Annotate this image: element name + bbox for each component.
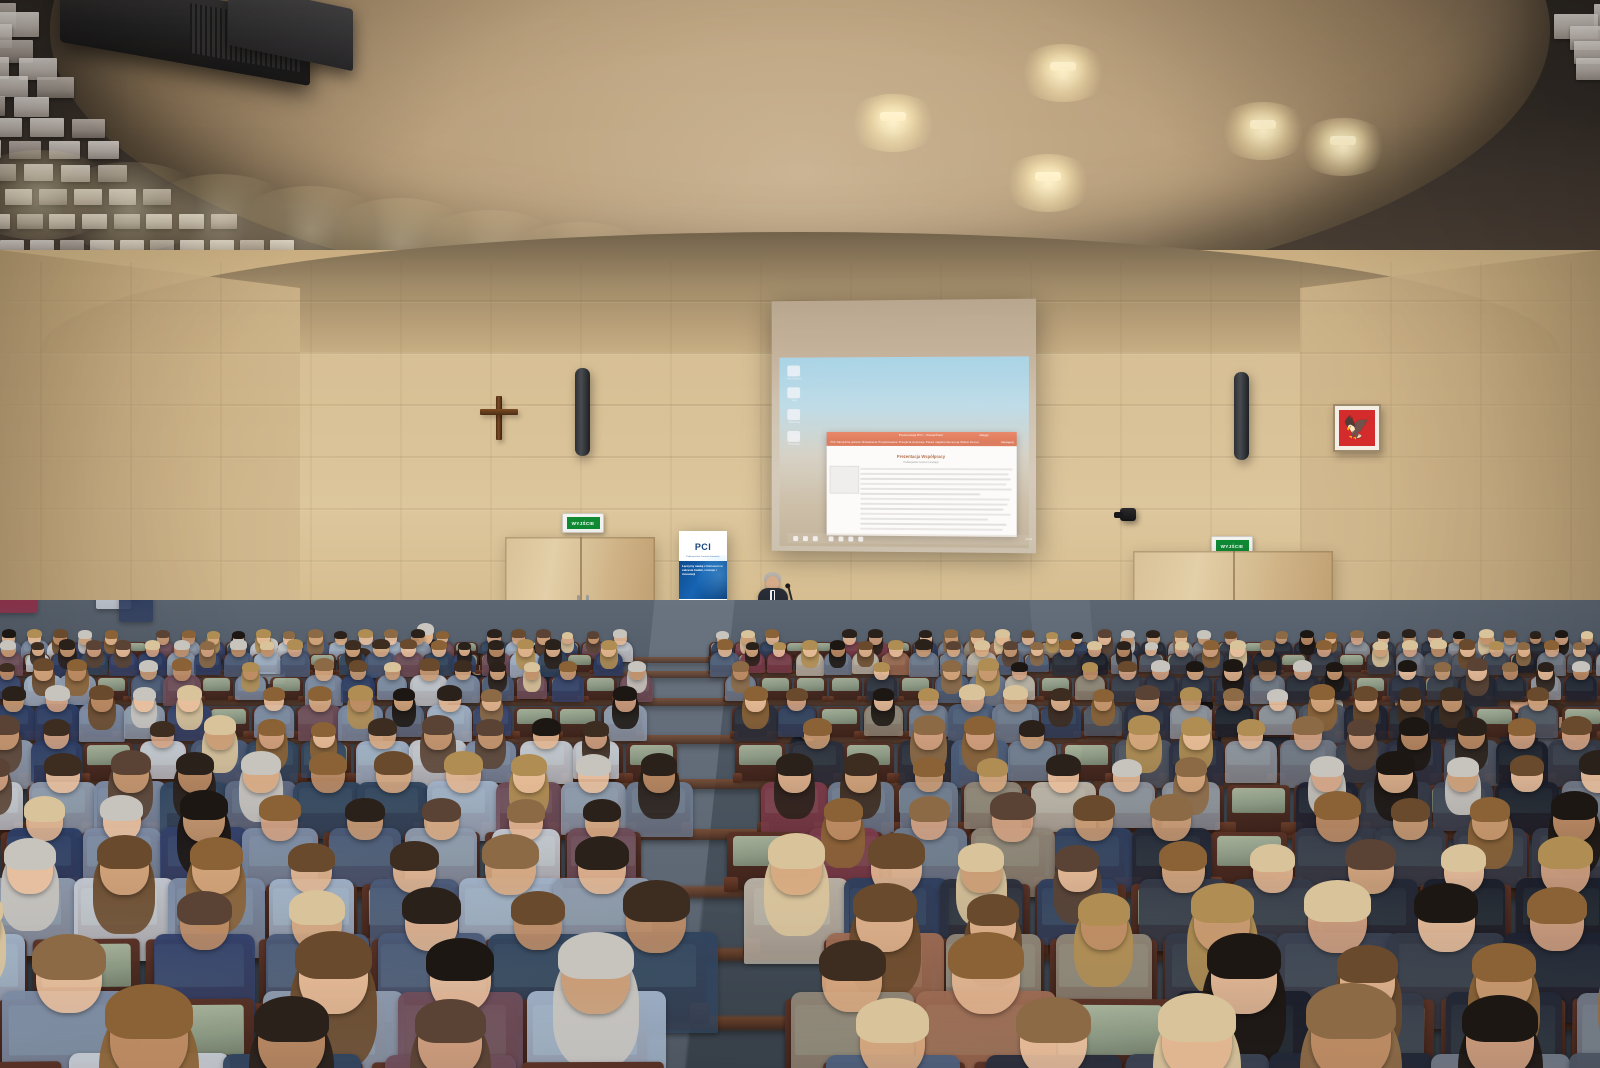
taskbar-app-icon-2[interactable] — [838, 536, 843, 541]
windows-taskbar[interactable]: 10:42 — [787, 533, 1036, 545]
crucifix-icon — [496, 396, 502, 440]
auditorium-photo: 🦅 WYJŚCIE WYJŚCIE Ten komputer — [0, 0, 1600, 1068]
desktop-icon-label-3: Dokumenty — [783, 421, 805, 424]
banner-claim-band: Łączymy naukę z biznesem w zakresie bada… — [679, 561, 727, 599]
slide-title: Prezentacja Współpracy — [897, 454, 945, 459]
coat-of-arms-frame: 🦅 — [1333, 404, 1381, 452]
crucifix-crossbar-icon — [480, 409, 518, 415]
screen-top-border — [772, 299, 1036, 359]
desktop-icon-label-1: Ten komputer — [783, 377, 805, 380]
taskbar-app-icon-3[interactable] — [848, 536, 853, 541]
powerpoint-share-button[interactable]: Udostępnij — [1001, 441, 1014, 444]
coat-of-arms-shield: 🦅 — [1339, 410, 1375, 446]
wall-speaker-right — [1234, 372, 1249, 460]
desktop-icon-2[interactable] — [787, 387, 800, 398]
exit-sign-right-label: WYJŚCIE — [1221, 544, 1244, 549]
exit-sign-left-label: WYJŚCIE — [572, 521, 595, 526]
slide-subtitle: Podkarpackie Centrum Innowacji — [904, 461, 939, 464]
taskbar-search-icon[interactable] — [803, 536, 808, 541]
banner-claim-text: Łączymy naukę z biznesem w zakresie bada… — [682, 565, 724, 577]
wall-camera-icon — [1120, 508, 1136, 521]
powerpoint-titlebar: Prezentacja PCI – PowerPoint Zaloguj — [827, 432, 1017, 440]
taskbar-taskview-icon[interactable] — [813, 536, 818, 541]
powerpoint-window[interactable]: Prezentacja PCI – PowerPoint Zaloguj Pli… — [827, 432, 1017, 537]
desktop-icon-label-4: Prezentacje — [783, 443, 805, 446]
taskbar-app-icon-4[interactable] — [858, 536, 863, 541]
taskbar-start-icon[interactable] — [793, 536, 798, 541]
desktop-icon-3[interactable] — [787, 409, 800, 420]
powerpoint-thumbnail-pane[interactable] — [830, 466, 860, 494]
banner-logo-text: PCI — [695, 542, 711, 552]
exit-sign-left: WYJŚCIE — [562, 513, 604, 533]
powerpoint-account[interactable]: Zaloguj — [979, 434, 988, 437]
taskbar-app-icon-1[interactable] — [829, 536, 834, 541]
eagle-icon: 🦅 — [1343, 417, 1370, 439]
powerpoint-ribbon-tabs[interactable]: Plik Narzędzia główne Wstawianie Projekt… — [831, 441, 980, 444]
audience-seating — [0, 600, 1600, 1068]
projection-screen: Ten komputer Kosz Dokumenty Prezentacje … — [772, 299, 1036, 554]
powerpoint-title: Prezentacja PCI – PowerPoint — [899, 433, 943, 437]
desktop-icon-4[interactable] — [787, 431, 800, 442]
taskbar-clock[interactable]: 10:42 — [1025, 538, 1032, 541]
exit-sign-left-panel: WYJŚCIE — [567, 517, 600, 529]
powerpoint-canvas: Prezentacja Współpracy Podkarpackie Cent… — [827, 446, 1017, 537]
desktop-icon-1[interactable] — [787, 365, 800, 376]
wall-speaker-left — [575, 368, 590, 456]
desktop-icon-label-2: Kosz — [783, 399, 805, 402]
projected-desktop: Ten komputer Kosz Dokumenty Prezentacje … — [779, 356, 1028, 548]
